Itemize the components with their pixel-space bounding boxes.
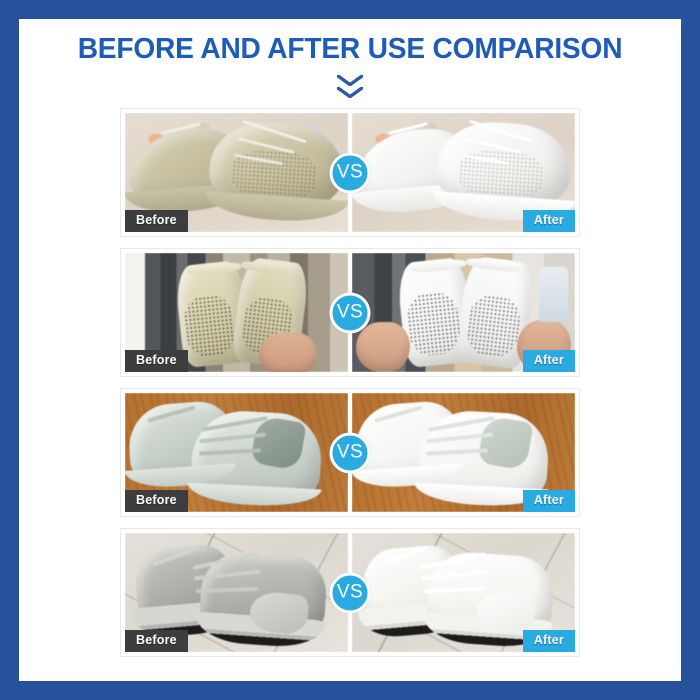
row-4-after-panel: After bbox=[352, 533, 575, 652]
row-1-after-panel: After bbox=[352, 113, 575, 232]
vs-badge: VS bbox=[330, 432, 371, 473]
badge-before: Before bbox=[125, 630, 188, 652]
row-3-before-panel: Before bbox=[125, 393, 348, 512]
vs-badge: VS bbox=[330, 292, 371, 333]
row-2-after-panel: After bbox=[352, 253, 575, 372]
comparison-row-4: Before After VS bbox=[120, 528, 580, 657]
page-title: BEFORE AND AFTER USE COMPARISON bbox=[29, 33, 671, 66]
detergent-bottle bbox=[539, 267, 568, 322]
badge-before: Before bbox=[125, 490, 188, 512]
row-4-before-panel: Before bbox=[125, 533, 348, 652]
comparison-row-1: Before After VS bbox=[120, 108, 580, 237]
badge-after: After bbox=[523, 210, 575, 232]
badge-after: After bbox=[523, 630, 575, 652]
vs-badge: VS bbox=[330, 572, 371, 613]
hand bbox=[259, 332, 317, 372]
double-chevron-down-icon bbox=[19, 73, 681, 99]
row-2-before-panel: Before bbox=[125, 253, 348, 372]
title-block: BEFORE AND AFTER USE COMPARISON bbox=[19, 19, 681, 99]
badge-before: Before bbox=[125, 350, 188, 372]
badge-after: After bbox=[523, 490, 575, 512]
vs-badge: VS bbox=[330, 152, 371, 193]
row-1-before-panel: Before bbox=[125, 113, 348, 232]
poster-inner: BEFORE AND AFTER USE COMPARISON bbox=[19, 19, 681, 681]
hand-left bbox=[356, 322, 410, 372]
poster-frame: BEFORE AND AFTER USE COMPARISON bbox=[0, 0, 700, 700]
comparison-row-3: Before After VS bbox=[120, 388, 580, 517]
badge-before: Before bbox=[125, 210, 188, 232]
badge-after: After bbox=[523, 350, 575, 372]
comparison-rows: Before After VS bbox=[19, 108, 681, 657]
comparison-row-2: Before After VS bbox=[120, 248, 580, 377]
row-3-after-panel: After bbox=[352, 393, 575, 512]
